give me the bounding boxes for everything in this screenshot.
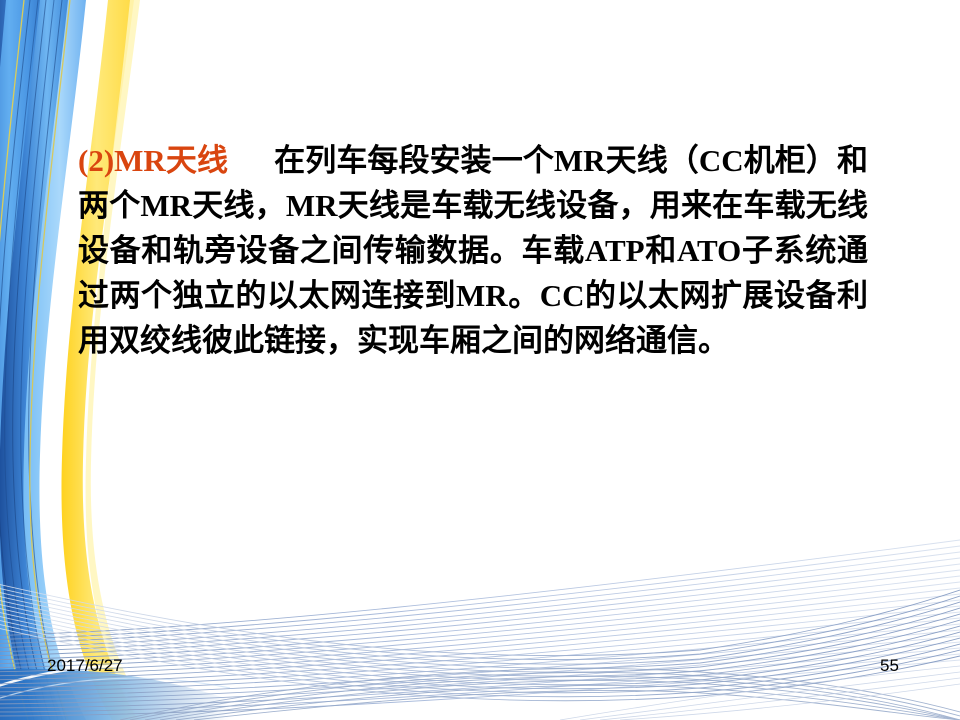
wave-fan-descending — [0, 580, 960, 701]
wave-fan-ascending — [0, 540, 960, 716]
ribbon-bottom-flare — [0, 669, 230, 720]
ribbon-band-blue-main — [0, 0, 62, 720]
footer-date: 2017/6/27 — [47, 656, 123, 676]
wave-fan-right-tail — [560, 666, 960, 720]
ribbon-hairlines — [0, 0, 66, 720]
wave-svg — [0, 520, 960, 720]
section-heading-label: (2)MR天线 — [78, 143, 228, 178]
footer-page-number: 55 — [880, 656, 899, 676]
ribbon-band-navy — [0, 0, 22, 720]
wave-fan-lower-crest — [120, 669, 960, 720]
slide-canvas: (2)MR天线在列车每段安装一个MR天线（CC机柜）和两个MR天线，MR天线是车… — [0, 0, 960, 720]
ribbon-yellow-hairlines — [0, 0, 70, 720]
bottom-line-fan-wave — [0, 520, 960, 720]
slide-body-text: (2)MR天线在列车每段安装一个MR天线（CC机柜）和两个MR天线，MR天线是车… — [78, 138, 868, 363]
ribbon-band-blue-inner — [0, 0, 86, 720]
ribbon-bottom-arc-2 — [0, 678, 230, 712]
